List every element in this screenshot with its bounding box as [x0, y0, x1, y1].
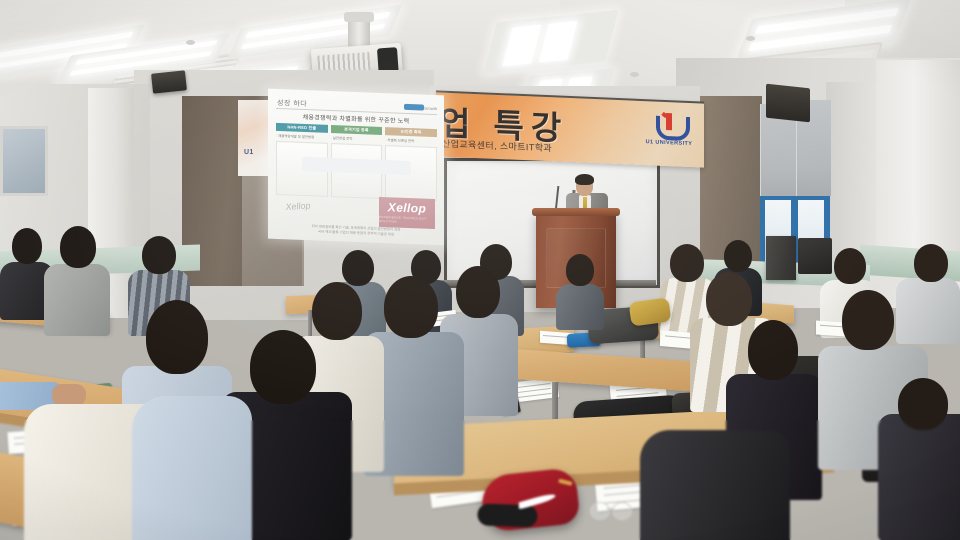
student	[44, 226, 110, 336]
backpack-zipper	[558, 479, 573, 486]
u1-logo-text: U1 UNIVERSITY	[642, 139, 696, 147]
u1-university-logo: U1 UNIVERSITY	[642, 115, 696, 157]
xellop-logo: Xellop EXPERIENCE TECHNOLOGY SOLUTION	[379, 197, 435, 229]
slide-card	[385, 145, 437, 201]
smoke-detector-icon	[630, 72, 639, 77]
slide-tag-note: Growth	[424, 106, 437, 111]
student	[556, 254, 604, 330]
slide-box: 본격기업 등록	[331, 125, 383, 135]
left-wall-window	[0, 126, 48, 196]
xellop-logo-tagline: EXPERIENCE TECHNOLOGY SOLUTION	[379, 215, 435, 225]
projector-mount	[348, 18, 370, 48]
student	[640, 430, 790, 540]
wall-sign-text: U1	[244, 149, 254, 156]
slide-box: SI인증 획득	[385, 127, 437, 137]
lecture-hall-photo: U1 업 특강 산업교육센터, 스마트IT학과 U1 UNIVERSITY	[0, 0, 960, 540]
xellop-logo-name: Xellop	[388, 201, 426, 214]
right-wall-pillar-inner	[826, 82, 878, 272]
slide-bullet: · 차별화 브랜딩 전략	[385, 137, 437, 145]
student	[878, 378, 960, 540]
event-banner: 업 특강 산업교육센터, 스마트IT학과 U1 UNIVERSITY	[436, 90, 704, 167]
slide-screenshot-cards	[276, 141, 437, 201]
wall-ac-unit	[766, 84, 810, 123]
student	[132, 396, 252, 540]
smoke-detector-icon	[746, 36, 755, 41]
nike-swoosh-icon	[517, 489, 556, 506]
slide-signature: Xellop	[285, 199, 339, 224]
slide-tag-badge	[404, 104, 424, 111]
lectern-top	[532, 208, 620, 216]
right-wall-pillar	[876, 60, 960, 270]
smoke-detector-icon	[186, 40, 195, 45]
u1-logo-mark-icon	[656, 116, 682, 139]
slide-box: NHN-RED 진출	[276, 123, 328, 133]
wall-mounted-speaker	[151, 70, 187, 93]
slide-bullet: · 실전면접 전략	[331, 135, 383, 143]
slide-bullet: · 채용역량개발 및 발전방향	[276, 133, 328, 141]
projected-slide: 성장 하다 Growth 채용경쟁력과 차별화를 위한 꾸준한 노력 NHN-R…	[268, 89, 444, 246]
eyeglasses	[590, 500, 636, 522]
